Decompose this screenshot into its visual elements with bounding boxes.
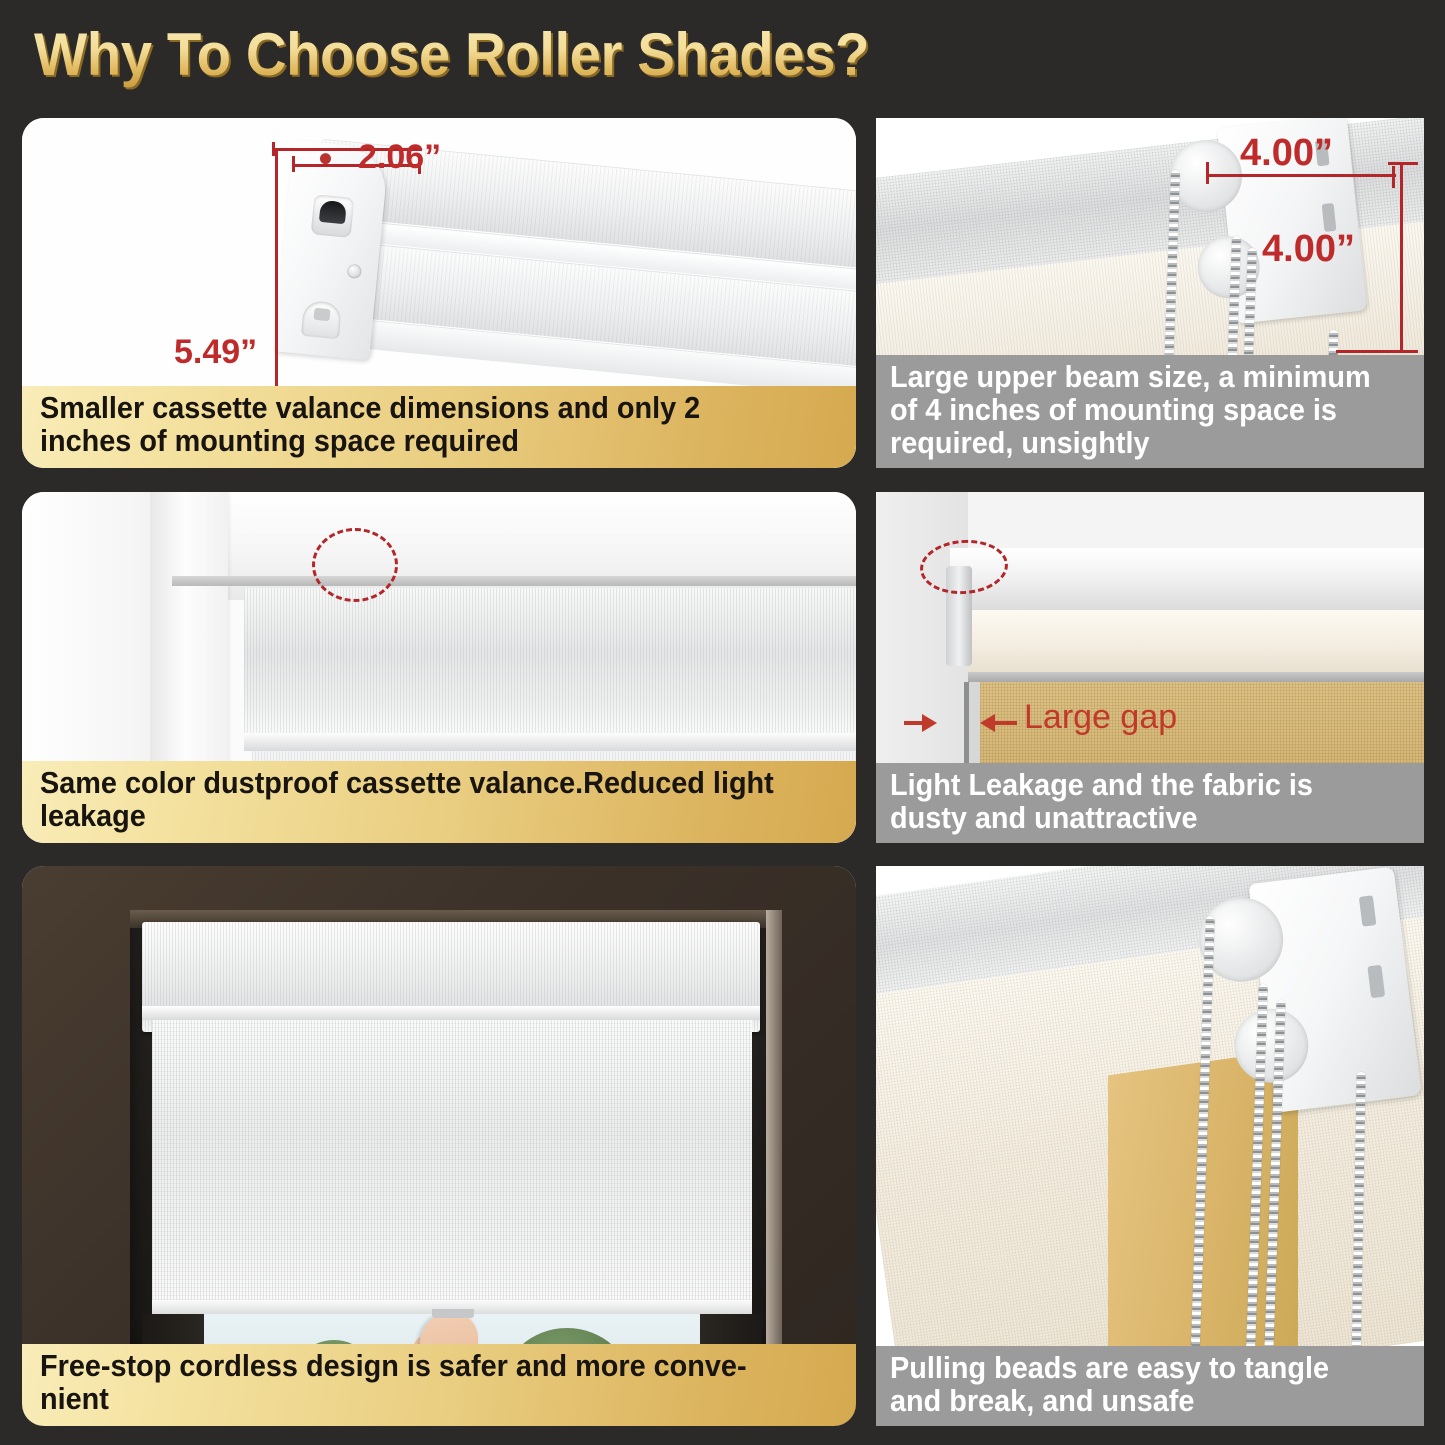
width-dim-tick-a (292, 156, 295, 172)
page-title: Why To Choose Roller Shades? (34, 20, 869, 89)
panel-cassette-dimensions: 2.06” 5.49” Smaller cassette valance dim… (22, 118, 856, 468)
panel-caption-text: Light Leakage and the fabric is dusty an… (890, 769, 1374, 835)
panel-caption-bar: Same color dustproof cassette valance.Re… (22, 761, 856, 843)
panel-caption-bar: Free-stop cordless design is safer and m… (22, 1344, 856, 1426)
beam-height-label: 4.00” (1262, 228, 1355, 271)
beam-width-tick-r (1392, 166, 1395, 188)
gap-arrow-right (980, 714, 995, 732)
panel-caption-bar: Large upper beam size, a minimum of 4 in… (876, 355, 1424, 468)
panel-caption-text: Pulling beads are easy to tangle and bre… (890, 1352, 1374, 1418)
panel-caption-bar: Light Leakage and the fabric is dusty an… (876, 763, 1424, 843)
height-dimension-label: 5.49” (174, 333, 257, 372)
gap-arrow-left (922, 714, 937, 732)
title-bar: Why To Choose Roller Shades? Why To Choo… (0, 0, 1445, 118)
panel-pulling-beads: Pulling beads are easy to tangle and bre… (876, 866, 1424, 1426)
beam-width-tick-l (1206, 162, 1209, 184)
panel-cordless-design: Free-stop cordless design is safer and m… (22, 866, 856, 1426)
panel-caption-text: Free-stop cordless design is safer and m… (40, 1350, 780, 1416)
pulling-beads-photo (876, 866, 1424, 1426)
panel-caption-bar: Smaller cassette valance dimensions and … (22, 386, 856, 468)
panel-dustproof-valance: smaller gap Same color dustproof cassett… (22, 492, 856, 843)
gap-arrow-right-stem (995, 721, 1017, 725)
gap-callout-label: Large gap (1024, 698, 1177, 737)
gap-arrow-left-stem (904, 721, 924, 725)
panel-light-leakage: Large gap Light Leakage and the fabric i… (876, 492, 1424, 843)
width-dimension-label: 2.06” (358, 138, 441, 177)
beam-height-tick-bottom (1336, 350, 1418, 353)
pull-tab (432, 1309, 474, 1318)
gap-highlight-circle (312, 528, 398, 602)
roller-bracket (1193, 867, 1423, 1149)
roller-shade-fabric (152, 1020, 752, 1308)
panel-caption-text: Smaller cassette valance dimensions and … (40, 392, 780, 458)
beam-height-tick-top (1388, 162, 1418, 165)
panel-large-upper-beam: 4.00” 4.00” Large upper beam size, a min… (876, 118, 1424, 468)
panel-caption-text: Large upper beam size, a minimum of 4 in… (890, 361, 1374, 460)
beam-height-dim-line (1400, 162, 1403, 352)
cordless-design-photo (22, 866, 856, 1426)
panel-caption-text: Same color dustproof cassette valance.Re… (40, 767, 780, 833)
beam-width-label: 4.00” (1240, 132, 1333, 175)
panel-caption-bar: Pulling beads are easy to tangle and bre… (876, 1346, 1424, 1426)
